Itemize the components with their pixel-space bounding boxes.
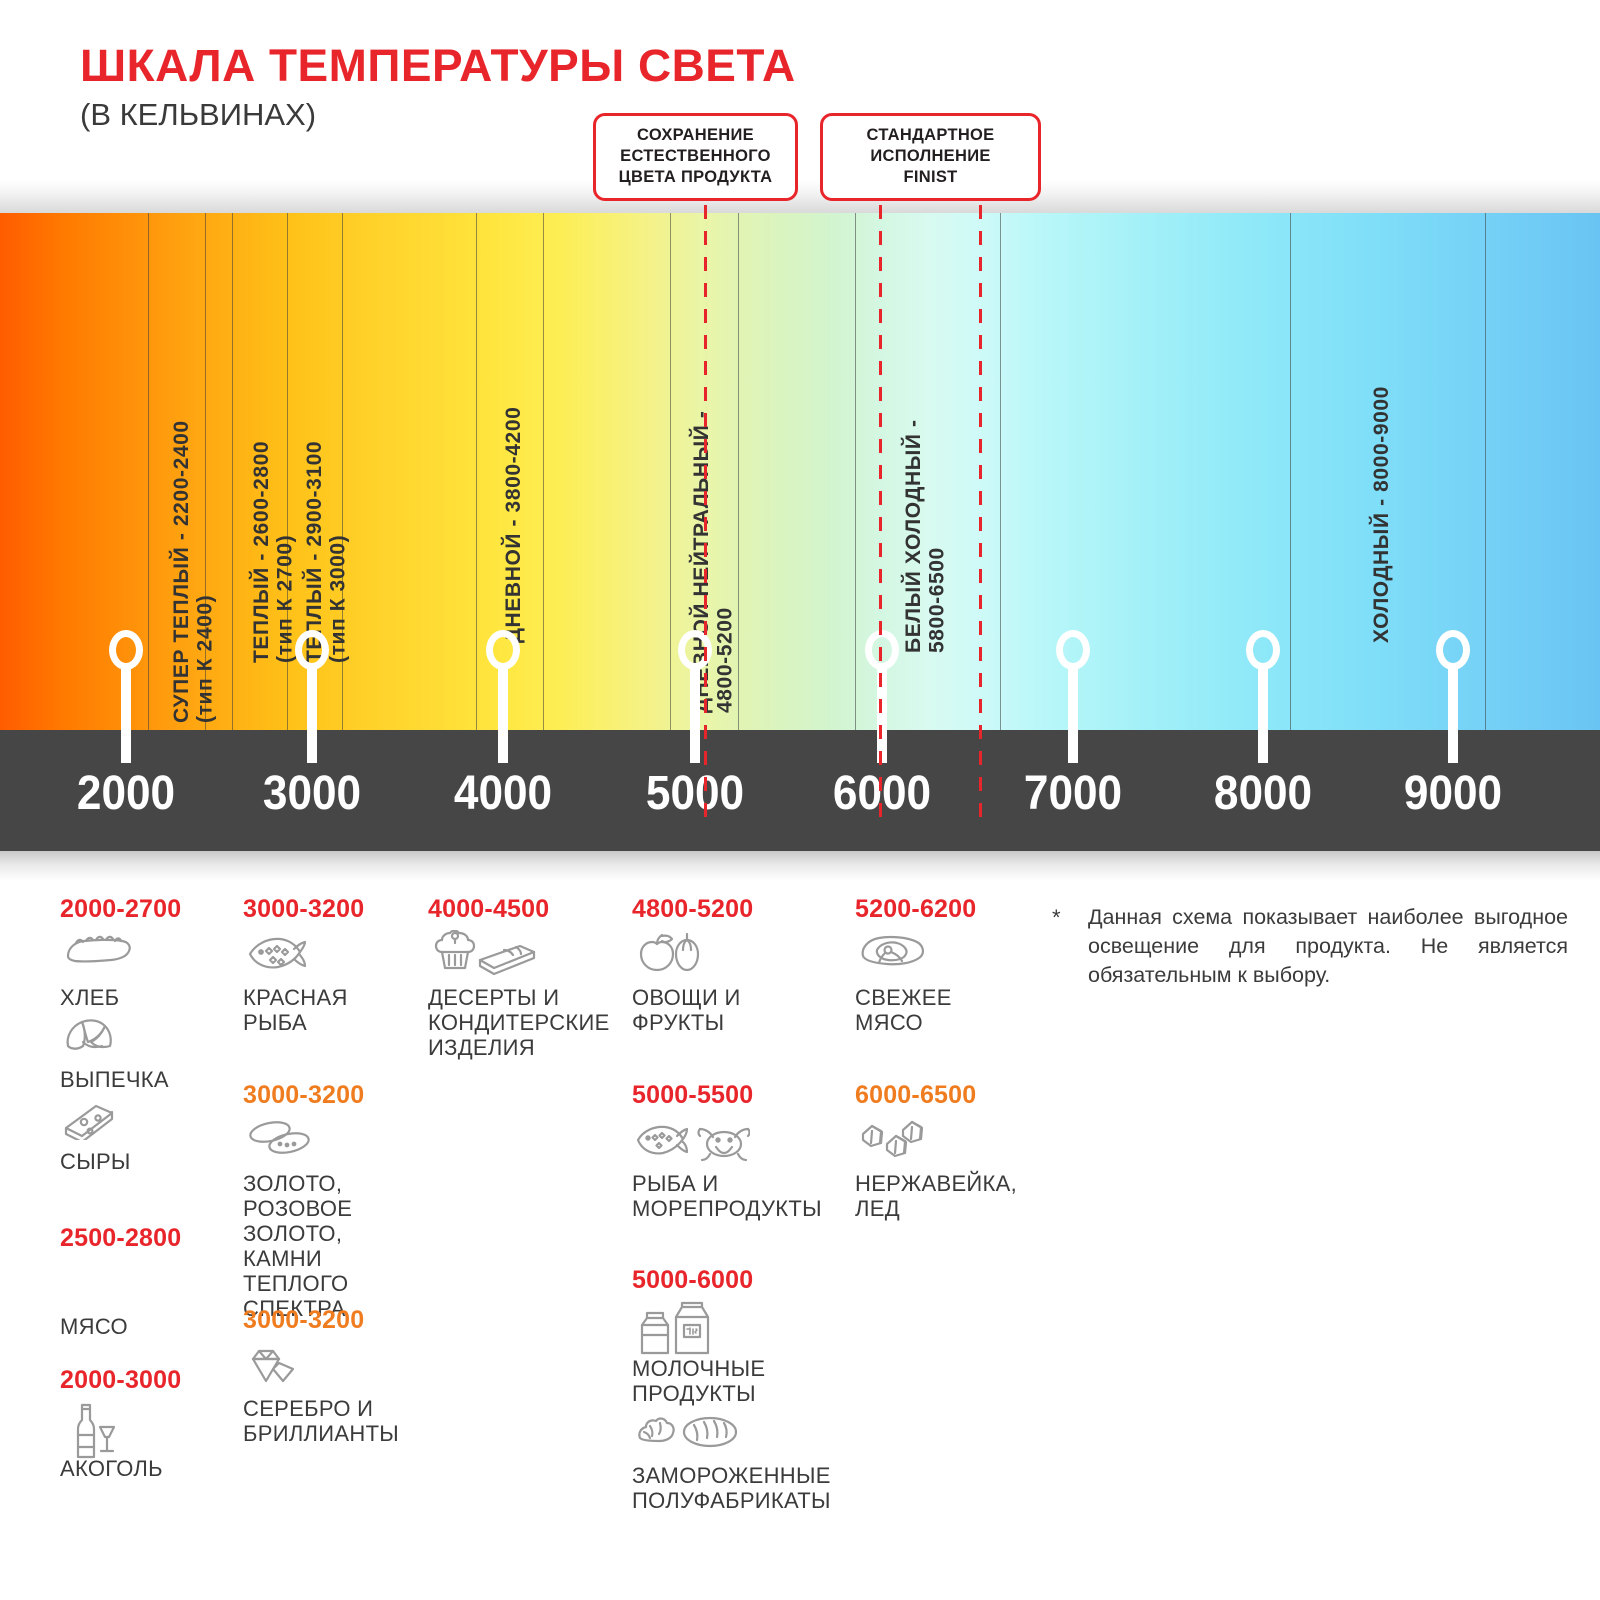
marker-ring-icon <box>1056 630 1090 670</box>
legend-range-label: 2000-2700 <box>60 895 181 924</box>
legend-item: ОВОЩИ И ФРУКТЫ <box>632 930 753 1035</box>
band-label-line1: БЕЛЫЙ ХОЛОДНЫЙ - <box>902 419 925 653</box>
legend-item-label: ЗАМОРОЖЕННЫЕ ПОЛУФАБРИКАТЫ <box>632 1463 831 1513</box>
band-label-line1: ТЕПЛЫЙ - 2600-2800 <box>250 441 273 663</box>
legend-item: СЫРЫ <box>60 1094 181 1174</box>
band-divider <box>1000 213 1001 730</box>
legend-group: 2500-2800МЯСО <box>60 1224 181 1341</box>
diamond-icon <box>243 1341 399 1393</box>
callout-line: FINIST <box>837 167 1024 188</box>
legend-group: 6000-6500НЕРЖАВЕЙКА, ЛЕД <box>855 1081 1017 1223</box>
meat-icon <box>60 1259 181 1311</box>
legend-item-label: ЗОЛОТО, РОЗОВОЕ ЗОЛОТО, КАМНИ ТЕПЛОГО СП… <box>243 1171 364 1321</box>
marker-stem <box>1258 664 1268 763</box>
legend-item-label: МЯСО <box>60 1314 181 1339</box>
band-label-line1: ХОЛОДНЫЙ - 8000-9000 <box>1370 386 1393 643</box>
legend-range-label: 3000-3200 <box>243 895 364 924</box>
spectrum-band-label: ТЕПЛЫЙ - 2900-3100(тип К 3000) <box>303 233 350 663</box>
marker-ring-icon <box>295 630 329 670</box>
legend-group: 5000-6000МОЛОЧНЫЕ ПРОДУКТЫЗАМОРОЖЕННЫЕ П… <box>632 1266 831 1515</box>
legend-group: 2000-3000АКОГОЛЬ <box>60 1366 181 1483</box>
legend-range-label: 4000-4500 <box>428 895 610 924</box>
kelvin-tick-label: 3000 <box>263 766 361 821</box>
page-title: ШКАЛА ТЕМПЕРАТУРЫ СВЕТА <box>80 40 796 92</box>
legend-item-label: ХЛЕБ <box>60 985 181 1010</box>
band-divider <box>148 213 149 730</box>
legend-item: НЕРЖАВЕЙКА, ЛЕД <box>855 1116 1017 1221</box>
legend-range-label: 4800-5200 <box>632 895 753 924</box>
spectrum-band-label: БЕЛЫЙ ХОЛОДНЫЙ -5800-6500 <box>902 233 949 653</box>
callout-line: ИСПОЛНЕНИЕ <box>837 146 1024 167</box>
legend-item-label: СЕРЕБРО И БРИЛЛИАНТЫ <box>243 1396 399 1446</box>
legend-item-label: СВЕЖЕЕ МЯСО <box>855 985 976 1035</box>
vegetables-icon <box>632 930 753 982</box>
legend-item: СВЕЖЕЕ МЯСО <box>855 930 976 1035</box>
footnote: * Данная схема показывает наиболее выгод… <box>1052 903 1568 990</box>
alcohol-icon <box>60 1401 181 1453</box>
band-label-line2: (тип К 2400) <box>194 233 218 723</box>
band-divider <box>670 213 671 730</box>
croissant-icon <box>60 1012 181 1064</box>
legend-item-label: НЕРЖАВЕЙКА, ЛЕД <box>855 1171 1017 1221</box>
band-label-line2: (тип К 2700) <box>274 233 298 663</box>
marker-stem <box>307 664 317 763</box>
band-divider <box>1485 213 1486 730</box>
legend-group: 2000-2700ХЛЕБВЫПЕЧКАСЫРЫ <box>60 895 181 1176</box>
spectrum-band-label: ХОЛОДНЫЙ - 8000-9000 <box>1370 233 1394 643</box>
legend-item: ВЫПЕЧКА <box>60 1012 181 1092</box>
marker-ring-icon <box>1246 630 1280 670</box>
legend-group: 5000-5500РЫБА И МОРЕПРОДУКТЫ <box>632 1081 822 1223</box>
band-label-line1: ДНЕВНОЙ - 3800-4200 <box>502 407 525 643</box>
legend-group: 4000-4500ДЕСЕРТЫ И КОНДИТЕРСКИЕ ИЗДЕЛИЯ <box>428 895 610 1062</box>
kelvin-scale-band <box>0 730 1600 851</box>
legend-range-label: 5000-6000 <box>632 1266 831 1295</box>
marker-stem <box>1068 664 1078 763</box>
legend-range-label: 3000-3200 <box>243 1081 364 1110</box>
callout-line: СТАНДАРТНОЕ <box>837 125 1024 146</box>
legend-item: КРАСНАЯ РЫБА <box>243 930 364 1035</box>
kelvin-tick-label: 9000 <box>1404 766 1502 821</box>
bread-icon <box>60 930 181 982</box>
milk-icon <box>632 1301 831 1353</box>
kelvin-tick-label: 5000 <box>646 766 744 821</box>
steak-icon <box>855 930 976 982</box>
footnote-asterisk: * <box>1052 903 1061 933</box>
band-label-line2: 4800-5200 <box>714 233 738 713</box>
legend-item: ХЛЕБ <box>60 930 181 1010</box>
callout-line: ЦВЕТА ПРОДУКТА <box>610 167 781 188</box>
callout-dashed-line <box>879 205 882 822</box>
legend-item: МОЛОЧНЫЕ ПРОДУКТЫ <box>632 1301 831 1406</box>
marker-ring-icon <box>1436 630 1470 670</box>
band-label-line2: 5800-6500 <box>926 233 950 653</box>
marker-stem <box>498 664 508 763</box>
legend-item: РЫБА И МОРЕПРОДУКТЫ <box>632 1116 822 1221</box>
legend-range-label: 3000-3200 <box>243 1306 399 1335</box>
legend-item-label: МОЛОЧНЫЕ ПРОДУКТЫ <box>632 1356 831 1406</box>
legend-item: ЗОЛОТО, РОЗОВОЕ ЗОЛОТО, КАМНИ ТЕПЛОГО СП… <box>243 1116 364 1321</box>
legend-section: 2000-2700ХЛЕБВЫПЕЧКАСЫРЫ2500-2800МЯСО200… <box>0 881 1600 1600</box>
ice-icon <box>855 1116 1017 1168</box>
band-divider <box>543 213 544 730</box>
band-divider <box>232 213 233 730</box>
legend-group: 3000-3200СЕРЕБРО И БРИЛЛИАНТЫ <box>243 1306 399 1448</box>
marker-ring-icon <box>109 630 143 670</box>
kelvin-tick-label: 6000 <box>833 766 931 821</box>
frozen-icon <box>632 1408 831 1460</box>
band-divider <box>738 213 739 730</box>
legend-group: 3000-3200ЗОЛОТО, РОЗОВОЕ ЗОЛОТО, КАМНИ Т… <box>243 1081 364 1323</box>
legend-range-label: 5000-5500 <box>632 1081 822 1110</box>
legend-group: 4800-5200ОВОЩИ И ФРУКТЫ <box>632 895 753 1037</box>
callout-natural-color: СОХРАНЕНИЕЕСТЕСТВЕННОГОЦВЕТА ПРОДУКТА <box>593 113 798 201</box>
callout-dashed-line <box>979 205 982 822</box>
rings-icon <box>243 1116 364 1168</box>
legend-range-label: 2000-3000 <box>60 1366 181 1395</box>
legend-item-label: ДЕСЕРТЫ И КОНДИТЕРСКИЕ ИЗДЕЛИЯ <box>428 985 610 1060</box>
spectrum-band-label: ТЕПЛЫЙ - 2600-2800(тип К 2700) <box>250 233 297 663</box>
top-shadow <box>0 180 1600 213</box>
callout-line: СОХРАНЕНИЕ <box>610 125 781 146</box>
band-divider <box>855 213 856 730</box>
spectrum-scale: СУПЕР ТЕПЛЫЙ - 2200-2400(тип К 2400)ТЕПЛ… <box>0 213 1600 730</box>
kelvin-tick-label: 8000 <box>1214 766 1312 821</box>
legend-group: 3000-3200КРАСНАЯ РЫБА <box>243 895 364 1037</box>
legend-range-label: 6000-6500 <box>855 1081 1017 1110</box>
dessert-icon <box>428 930 610 982</box>
fish-icon <box>243 930 364 982</box>
marker-ring-icon <box>486 630 520 670</box>
band-label-line1: СУПЕР ТЕПЛЫЙ - 2200-2400 <box>170 420 193 723</box>
cheese-icon <box>60 1094 181 1146</box>
kelvin-tick-label: 2000 <box>77 766 175 821</box>
spectrum-band-label: СУПЕР ТЕПЛЫЙ - 2200-2400(тип К 2400) <box>170 233 217 723</box>
legend-item-label: СЫРЫ <box>60 1149 181 1174</box>
band-divider <box>1290 213 1291 730</box>
band-divider <box>476 213 477 730</box>
legend-range-label: 2500-2800 <box>60 1224 181 1253</box>
legend-item-label: АКОГОЛЬ <box>60 1456 181 1481</box>
footnote-text: Данная схема показывает наиболее выгодно… <box>1088 903 1568 990</box>
legend-item: ДЕСЕРТЫ И КОНДИТЕРСКИЕ ИЗДЕЛИЯ <box>428 930 610 1060</box>
legend-item-label: ВЫПЕЧКА <box>60 1067 181 1092</box>
marker-ring-icon <box>865 630 899 670</box>
legend-item: МЯСО <box>60 1259 181 1339</box>
legend-item-label: РЫБА И МОРЕПРОДУКТЫ <box>632 1171 822 1221</box>
callout-line: ЕСТЕСТВЕННОГО <box>610 146 781 167</box>
seafood-icon <box>632 1116 822 1168</box>
spectrum-gradient <box>0 213 1600 730</box>
legend-item: СЕРЕБРО И БРИЛЛИАНТЫ <box>243 1341 399 1446</box>
legend-item: АКОГОЛЬ <box>60 1401 181 1481</box>
marker-stem <box>1448 664 1458 763</box>
callout-dashed-line <box>704 205 707 822</box>
spectrum-band-label: ДНЕВНОЙ - 3800-4200 <box>502 233 526 643</box>
bottom-shadow <box>0 851 1600 881</box>
page-subtitle: (В КЕЛЬВИНАХ) <box>80 97 316 133</box>
band-label-line2: (тип К 3000) <box>327 233 351 663</box>
legend-item-label: ОВОЩИ И ФРУКТЫ <box>632 985 753 1035</box>
legend-item-label: КРАСНАЯ РЫБА <box>243 985 364 1035</box>
callout-finist-standard: СТАНДАРТНОЕИСПОЛНЕНИЕFINIST <box>820 113 1041 201</box>
marker-stem <box>121 664 131 763</box>
legend-range-label: 5200-6200 <box>855 895 976 924</box>
kelvin-tick-label: 4000 <box>454 766 552 821</box>
kelvin-tick-label: 7000 <box>1024 766 1122 821</box>
legend-group: 5200-6200СВЕЖЕЕ МЯСО <box>855 895 976 1037</box>
legend-item: ЗАМОРОЖЕННЫЕ ПОЛУФАБРИКАТЫ <box>632 1408 831 1513</box>
marker-stem <box>690 664 700 763</box>
